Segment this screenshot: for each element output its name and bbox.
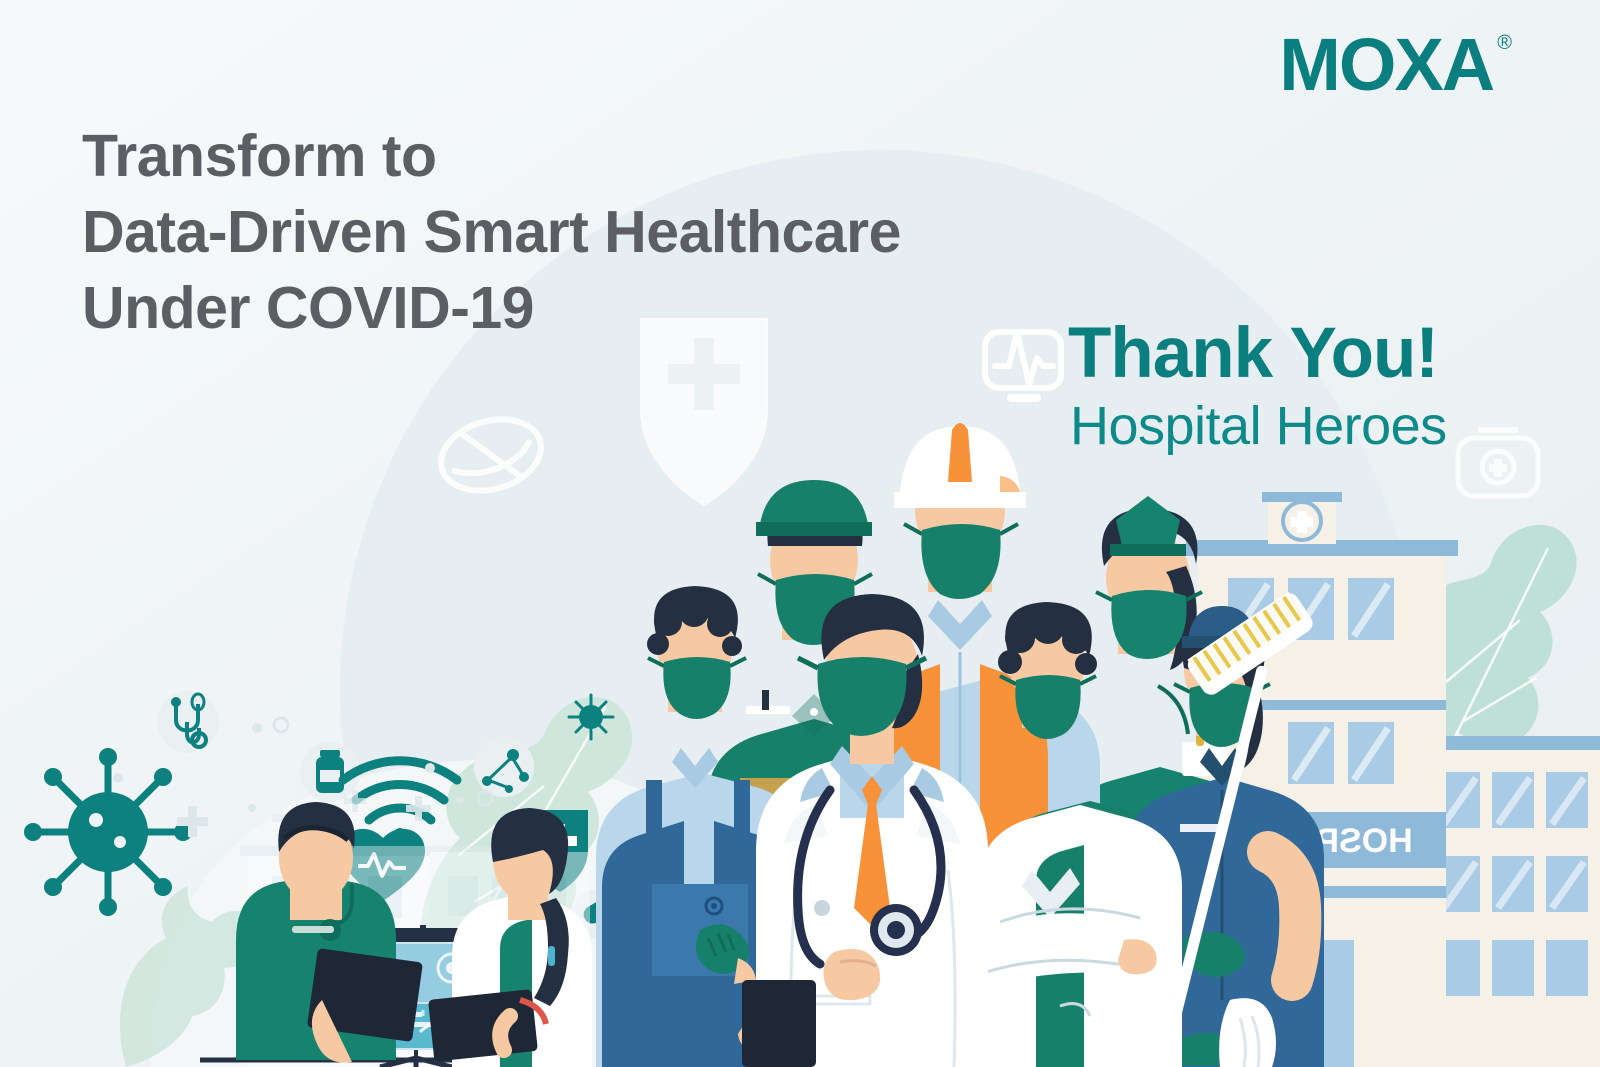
poster-canvas: HOSPITAL [0, 0, 1600, 1067]
tribute-block: Thank You! Hospital Heroes [1068, 318, 1447, 453]
doctor-lab-coat [742, 594, 988, 1067]
page-title: Transform to Data-Driven Smart Healthcar… [82, 118, 901, 346]
registered-trademark-icon: ® [1497, 32, 1512, 55]
moxa-logo-text: MOXA [1279, 28, 1493, 102]
doctor-female [966, 805, 1182, 1067]
tribute-subheadline: Hospital Heroes [1070, 399, 1447, 453]
monitor-ecg-icon [975, 318, 1071, 414]
moxa-logo: MOXA ® [1279, 28, 1512, 102]
tribute-headline: Thank You! [1068, 318, 1447, 389]
